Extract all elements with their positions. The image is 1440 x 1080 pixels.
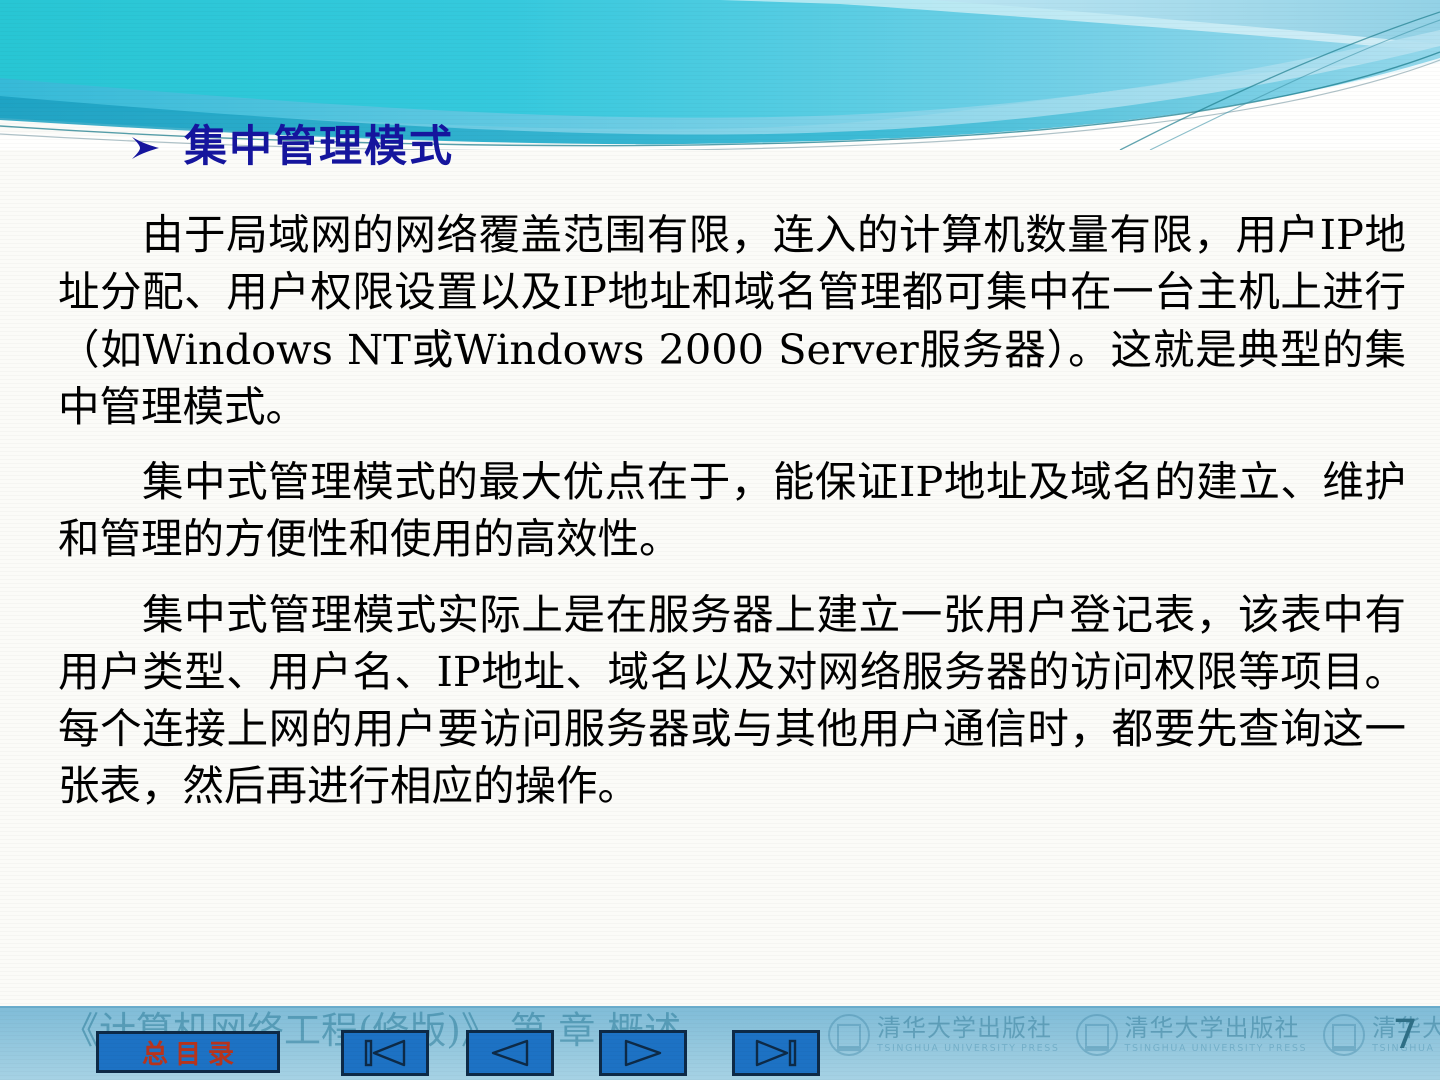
next-slide-button[interactable] (599, 1030, 687, 1076)
presentation-slide: 集中管理模式 由于局域网的网络覆盖范围有限，连入的计算机数量有限，用户IP地址分… (0, 0, 1440, 1080)
first-slide-button[interactable] (341, 1030, 429, 1076)
slide-heading: 集中管理模式 (128, 126, 454, 169)
footer-divider (0, 1006, 1440, 1008)
paragraph-3: 集中式管理模式实际上是在服务器上建立一张用户登记表，该表中有用户类型、用户名、I… (58, 586, 1406, 815)
paragraph-1: 由于局域网的网络覆盖范围有限，连入的计算机数量有限，用户IP地址分配、用户权限设… (58, 206, 1406, 435)
table-of-contents-button[interactable]: 总目录 (96, 1031, 280, 1073)
last-slide-button[interactable] (732, 1030, 820, 1076)
last-slide-icon (751, 1038, 801, 1068)
arrow-bullet-icon (128, 131, 162, 165)
slide-heading-text: 集中管理模式 (184, 126, 454, 169)
previous-slide-icon (485, 1038, 535, 1068)
slide-body-text: 由于局域网的网络覆盖范围有限，连入的计算机数量有限，用户IP地址分配、用户权限设… (58, 206, 1406, 833)
previous-slide-button[interactable] (466, 1030, 554, 1076)
next-slide-icon (618, 1038, 668, 1068)
paragraph-2: 集中式管理模式的最大优点在于，能保证IP地址及域名的建立、维护和管理的方便性和使… (58, 453, 1406, 568)
page-number: 7 (1393, 1012, 1418, 1058)
first-slide-icon (360, 1038, 410, 1068)
table-of-contents-label: 总目录 (135, 1034, 241, 1071)
